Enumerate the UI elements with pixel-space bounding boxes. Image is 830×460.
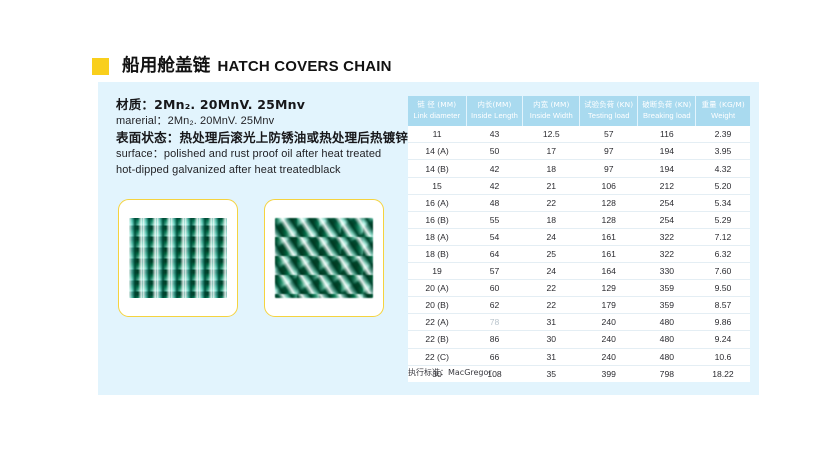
table-cell: 240	[580, 348, 638, 365]
table-cell: 16 (B)	[408, 211, 466, 228]
table-row: 14 (A)5017971943.95	[408, 143, 750, 160]
table-cell: 22	[523, 194, 580, 211]
table-cell: 240	[580, 331, 638, 348]
table-cell: 3.95	[696, 143, 750, 160]
page-title-en: HATCH COVERS CHAIN	[218, 58, 392, 75]
table-row: 114312.5571162.39	[408, 126, 750, 143]
table-cell: 19	[408, 263, 466, 280]
table-cell: 50	[466, 143, 523, 160]
table-cell: 66	[466, 348, 523, 365]
chain-photo-tangled-links	[275, 218, 373, 298]
table-cell: 97	[580, 160, 638, 177]
table-cell: 42	[466, 160, 523, 177]
table-cell: 43	[466, 126, 523, 143]
surface-line-en-2: hot-dipped galvanized after heat treated…	[116, 163, 426, 179]
table-column-header-5: 破断负荷 (KN)Breaking load	[638, 96, 696, 126]
table-cell: 179	[580, 297, 638, 314]
table-cell: 16 (A)	[408, 194, 466, 211]
table-cell: 9.50	[696, 280, 750, 297]
column-header-cn: 重量 (KG/M)	[697, 100, 749, 111]
page-title-row: 船用舱盖链HATCH COVERS CHAIN	[92, 57, 392, 76]
table-column-header-6: 重量 (KG/M)Weight	[696, 96, 750, 126]
table-cell: 21	[523, 177, 580, 194]
table-row: 20 (B)62221793598.57	[408, 297, 750, 314]
table-cell: 86	[466, 331, 523, 348]
chain-photo-horizontal-rows	[129, 218, 227, 298]
table-cell: 330	[638, 263, 696, 280]
table-cell: 22 (B)	[408, 331, 466, 348]
column-header-en: Inside Length	[468, 111, 522, 122]
table-body: 114312.5571162.3914 (A)5017971943.9514 (…	[408, 126, 750, 381]
table-cell: 18	[523, 211, 580, 228]
table-row: 22 (C)663124048010.6	[408, 348, 750, 365]
table-cell: 106	[580, 177, 638, 194]
table-cell: 480	[638, 331, 696, 348]
table-cell: 31	[523, 314, 580, 331]
content-panel: 宁波 材质：2Mn₂. 20MnV. 25Mnv marerial：2Mn₂. …	[98, 82, 759, 395]
table-cell: 20 (B)	[408, 297, 466, 314]
table-cell: 97	[580, 143, 638, 160]
table-cell: 128	[580, 194, 638, 211]
table-cell: 31	[523, 348, 580, 365]
table-cell: 12.5	[523, 126, 580, 143]
table-cell: 15	[408, 177, 466, 194]
table-cell: 480	[638, 348, 696, 365]
table-cell: 60	[466, 280, 523, 297]
surface-line-cn: 表面状态：热处理后滚光上防锈油或热处理后热镀锌	[116, 129, 426, 147]
table-cell: 42	[466, 177, 523, 194]
column-header-cn: 试验负荷 (KN)	[581, 100, 636, 111]
table-cell: 30	[523, 331, 580, 348]
table-cell: 7.60	[696, 263, 750, 280]
surface-line-en-1: surface：polished and rust proof oil afte…	[116, 147, 426, 163]
page-title-cn: 船用舱盖链	[122, 56, 211, 76]
table-cell: 254	[638, 194, 696, 211]
table-cell: 212	[638, 177, 696, 194]
table-cell: 57	[466, 263, 523, 280]
column-header-en: Testing load	[581, 111, 636, 122]
chain-specification-table: 链 径 (MM)Link diameter内长(MM)Inside Length…	[408, 96, 750, 382]
table-cell: 17	[523, 143, 580, 160]
table-cell: 254	[638, 211, 696, 228]
table-cell: 322	[638, 228, 696, 245]
table-cell: 24	[523, 263, 580, 280]
table-cell: 5.34	[696, 194, 750, 211]
table-column-header-1: 链 径 (MM)Link diameter	[408, 96, 466, 126]
table-cell: 18.22	[696, 365, 750, 382]
table-cell: 6.32	[696, 245, 750, 262]
table-cell: 194	[638, 160, 696, 177]
table-cell: 22	[523, 280, 580, 297]
table-cell: 18 (B)	[408, 245, 466, 262]
table-cell: 240	[580, 314, 638, 331]
table-row: 14 (B)4218971944.32	[408, 160, 750, 177]
table-cell: 161	[580, 228, 638, 245]
table-cell: 359	[638, 280, 696, 297]
column-header-en: Breaking load	[639, 111, 694, 122]
table-row: 16 (B)55181282545.29	[408, 211, 750, 228]
column-header-en: Link diameter	[409, 111, 465, 122]
specification-text-block: 材质：2Mn₂. 20MnV. 25Mnv marerial：2Mn₂. 20M…	[116, 96, 426, 178]
table-cell: 9.24	[696, 331, 750, 348]
table-cell: 14 (A)	[408, 143, 466, 160]
table-cell: 2.39	[696, 126, 750, 143]
table-cell: 54	[466, 228, 523, 245]
table-cell: 18 (A)	[408, 228, 466, 245]
title-marker-square	[92, 58, 109, 75]
table-row: 1957241643307.60	[408, 263, 750, 280]
column-header-cn: 链 径 (MM)	[409, 100, 465, 111]
table-cell: 22 (C)	[408, 348, 466, 365]
product-photo-card-1	[118, 199, 238, 317]
table-cell: 480	[638, 314, 696, 331]
table-cell: 194	[638, 143, 696, 160]
table-column-header-4: 试验负荷 (KN)Testing load	[580, 96, 638, 126]
table-cell: 798	[638, 365, 696, 382]
table-cell: 11	[408, 126, 466, 143]
column-header-en: Weight	[697, 111, 749, 122]
table-standard-note: 执行标准：MacGregor	[408, 367, 492, 378]
table-row: 18 (A)54241613227.12	[408, 228, 750, 245]
table-cell: 22 (A)	[408, 314, 466, 331]
product-photo-card-2	[264, 199, 384, 317]
table-cell: 55	[466, 211, 523, 228]
table-row: 1542211062125.20	[408, 177, 750, 194]
table-cell: 25	[523, 245, 580, 262]
table-cell: 9.86	[696, 314, 750, 331]
product-photo-row	[118, 199, 384, 317]
table-cell: 14 (B)	[408, 160, 466, 177]
column-header-cn: 内宽 (MM)	[524, 100, 578, 111]
table-cell: 116	[638, 126, 696, 143]
table-cell: 24	[523, 228, 580, 245]
table-cell: 62	[466, 297, 523, 314]
table-row: 22 (A)78312404809.86	[408, 314, 750, 331]
page-title: 船用舱盖链HATCH COVERS CHAIN	[122, 57, 392, 76]
table-cell: 5.29	[696, 211, 750, 228]
table-column-header-2: 内长(MM)Inside Length	[466, 96, 523, 126]
table-cell: 48	[466, 194, 523, 211]
material-line-en: marerial：2Mn₂. 20MnV. 25Mnv	[116, 114, 426, 130]
table-cell: 8.57	[696, 297, 750, 314]
table-cell: 5.20	[696, 177, 750, 194]
table-column-header-3: 内宽 (MM)Inside Width	[523, 96, 580, 126]
table-row: 20 (A)60221293599.50	[408, 280, 750, 297]
column-header-cn: 破断负荷 (KN)	[639, 100, 694, 111]
material-line-cn: 材质：2Mn₂. 20MnV. 25Mnv	[116, 96, 426, 114]
table-cell: 35	[523, 365, 580, 382]
table-header-row: 链 径 (MM)Link diameter内长(MM)Inside Length…	[408, 96, 750, 126]
table-row: 16 (A)48221282545.34	[408, 194, 750, 211]
table-cell: 57	[580, 126, 638, 143]
table-cell: 78	[466, 314, 523, 331]
column-header-cn: 内长(MM)	[468, 100, 522, 111]
table-cell: 20 (A)	[408, 280, 466, 297]
table-cell: 128	[580, 211, 638, 228]
table-cell: 64	[466, 245, 523, 262]
column-header-en: Inside Width	[524, 111, 578, 122]
table-cell: 359	[638, 297, 696, 314]
table-cell: 164	[580, 263, 638, 280]
table-cell: 129	[580, 280, 638, 297]
table-cell: 4.32	[696, 160, 750, 177]
table-cell: 22	[523, 297, 580, 314]
table-cell: 18	[523, 160, 580, 177]
table-row: 18 (B)64251613226.32	[408, 245, 750, 262]
table-cell: 161	[580, 245, 638, 262]
table-cell: 10.6	[696, 348, 750, 365]
table-cell: 322	[638, 245, 696, 262]
table-cell: 399	[580, 365, 638, 382]
table-row: 22 (B)86302404809.24	[408, 331, 750, 348]
table-cell: 7.12	[696, 228, 750, 245]
